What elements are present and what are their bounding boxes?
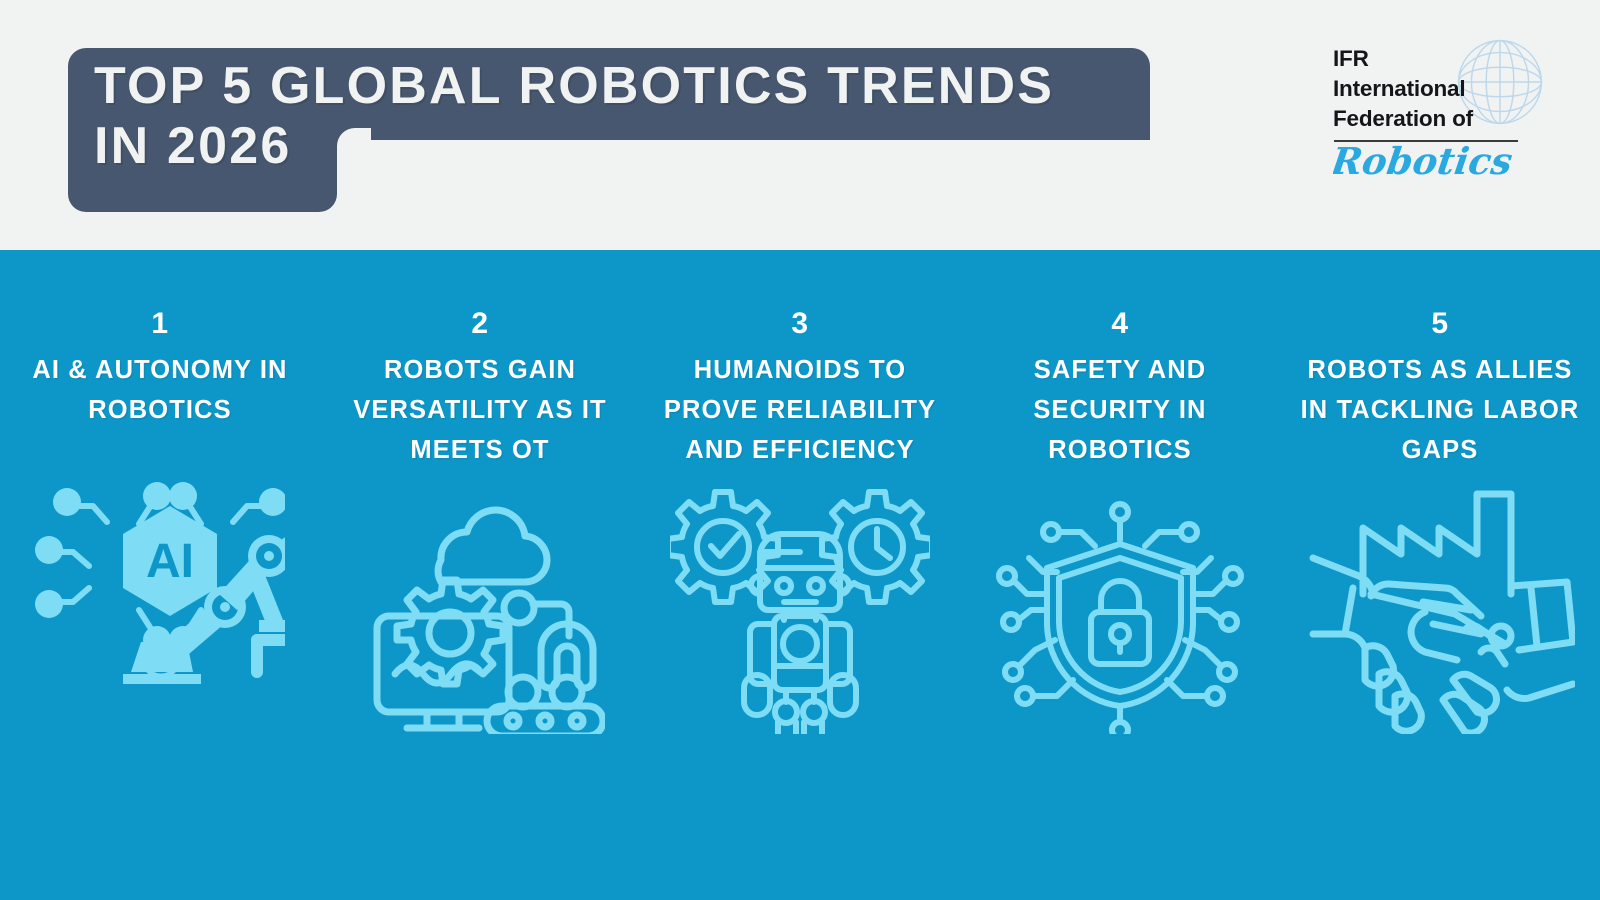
logo-script-text: Robotics bbox=[1333, 139, 1515, 183]
ai-robotic-arm-icon: AI bbox=[35, 444, 285, 694]
trend-column-2: 2 ROBOTS GAIN VERSATILITY AS IT MEETS OT bbox=[320, 308, 640, 734]
ai-label: AI bbox=[146, 535, 194, 588]
title-block: TOP 5 GLOBAL ROBOTICS TRENDS IN 2026 bbox=[68, 48, 1150, 212]
handshake-factory-icon bbox=[1305, 484, 1575, 734]
trend-title: ROBOTS GAIN VERSATILITY AS IT MEETS OT bbox=[330, 350, 630, 470]
trend-number: 5 bbox=[1431, 308, 1448, 340]
trend-number: 4 bbox=[1111, 308, 1128, 340]
trend-icon-wrapper bbox=[665, 484, 935, 734]
trend-title: AI & AUTONOMY IN ROBOTICS bbox=[10, 350, 310, 430]
logo-line-international: International bbox=[1333, 74, 1548, 104]
ifr-logo: IFR International Federation of Robotics bbox=[1333, 34, 1548, 184]
trend-number: 1 bbox=[151, 308, 168, 340]
logo-text-lines: IFR International Federation of bbox=[1333, 44, 1548, 134]
header-band: TOP 5 GLOBAL ROBOTICS TRENDS IN 2026 IFR… bbox=[0, 0, 1600, 250]
trend-column-3: 3 HUMANOIDS TO PROVE RELIABILITY AND EFF… bbox=[640, 308, 960, 734]
trend-icon-wrapper bbox=[1305, 484, 1575, 734]
trend-title: SAFETY AND SECURITY IN ROBOTICS bbox=[970, 350, 1270, 470]
trend-icon-wrapper: AI bbox=[25, 444, 295, 694]
trend-column-4: 4 SAFETY AND SECURITY IN ROBOTICS bbox=[960, 308, 1280, 734]
trend-column-1: 1 AI & AUTONOMY IN ROBOTICS bbox=[0, 308, 320, 734]
logo-line-federation: Federation of bbox=[1333, 104, 1548, 134]
infographic-poster: TOP 5 GLOBAL ROBOTICS TRENDS IN 2026 IFR… bbox=[0, 0, 1600, 900]
trend-columns: 1 AI & AUTONOMY IN ROBOTICS bbox=[0, 308, 1600, 734]
trend-number: 2 bbox=[471, 308, 488, 340]
logo-abbr: IFR bbox=[1333, 44, 1548, 74]
trend-icon-wrapper bbox=[345, 484, 615, 734]
humanoid-robot-gears-icon bbox=[670, 484, 930, 734]
cloud-gear-conveyor-icon bbox=[355, 484, 605, 734]
main-panel: 1 AI & AUTONOMY IN ROBOTICS bbox=[0, 250, 1600, 900]
trend-column-5: 5 ROBOTS AS ALLIES IN TACKLING LABOR GAP… bbox=[1280, 308, 1600, 734]
trend-title: HUMANOIDS TO PROVE RELIABILITY AND EFFIC… bbox=[650, 350, 950, 470]
page-title: TOP 5 GLOBAL ROBOTICS TRENDS IN 2026 bbox=[94, 56, 1144, 176]
trend-number: 3 bbox=[791, 308, 808, 340]
trend-icon-wrapper bbox=[985, 484, 1255, 734]
shield-lock-circuit-icon bbox=[995, 484, 1245, 734]
trend-title: ROBOTS AS ALLIES IN TACKLING LABOR GAPS bbox=[1290, 350, 1590, 470]
logo-script-robotics: Robotics bbox=[1333, 138, 1548, 186]
